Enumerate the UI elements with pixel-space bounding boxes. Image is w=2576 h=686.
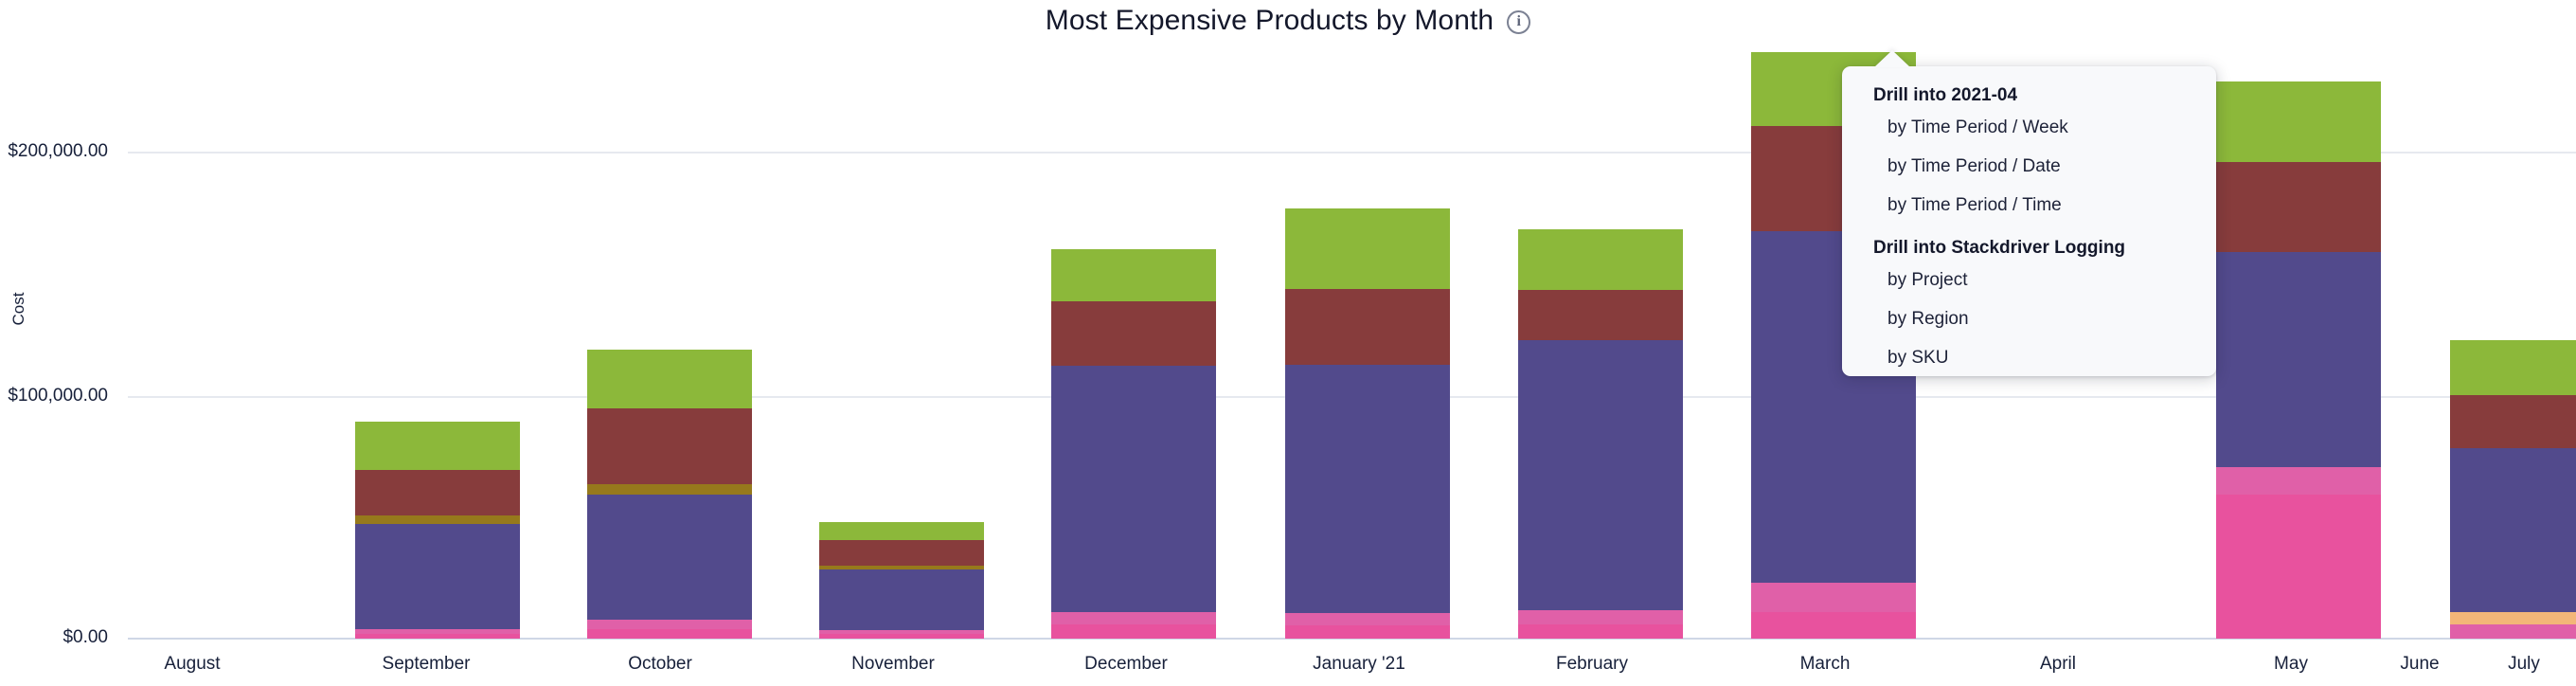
bar-segment[interactable] [2216, 81, 2381, 162]
menu-item-time-date[interactable]: by Time Period / Date [1842, 147, 2216, 186]
bar-june[interactable] [2216, 42, 2381, 639]
x-axis-tick-october[interactable]: October [628, 654, 692, 675]
bar-segment[interactable] [1518, 229, 1683, 290]
bar-segment[interactable] [1285, 208, 1450, 289]
bar-segment[interactable] [1751, 583, 1916, 612]
x-axis-tick-july[interactable]: July [2508, 654, 2540, 675]
y-axis-tick-label: $200,000.00 [0, 141, 108, 162]
bar-segment[interactable] [2216, 495, 2381, 639]
bar-segment[interactable] [1751, 612, 1916, 639]
bar-segment[interactable] [1518, 340, 1683, 610]
bar-segment[interactable] [587, 620, 752, 629]
bar-segment[interactable] [2216, 467, 2381, 495]
x-axis-tick-december[interactable]: December [1084, 654, 1168, 675]
bar-segment[interactable] [1051, 366, 1216, 612]
drill-menu-header-logging: Drill into Stackdriver Logging [1842, 225, 2216, 261]
bar-segment[interactable] [587, 629, 752, 639]
x-axis-tick-august[interactable]: August [164, 654, 220, 675]
x-axis-labels: AugustSeptemberOctoberNovemberDecemberJa… [128, 654, 2576, 682]
bar-segment[interactable] [355, 524, 520, 629]
x-axis-tick-april[interactable]: April [2040, 654, 2076, 675]
bar-segment[interactable] [1518, 624, 1683, 639]
x-axis-tick-february[interactable]: February [1556, 654, 1628, 675]
bar-segment[interactable] [1285, 365, 1450, 613]
bar-segment[interactable] [819, 569, 984, 630]
menu-item-region[interactable]: by Region [1842, 299, 2216, 338]
menu-item-project[interactable]: by Project [1842, 261, 2216, 299]
bar-segment[interactable] [1518, 610, 1683, 624]
bar-february[interactable] [1285, 42, 1450, 639]
bar-november[interactable] [587, 42, 752, 639]
chart-header: Most Expensive Products by Month i [0, 4, 2576, 38]
bar-segment[interactable] [355, 634, 520, 639]
bar-segment[interactable] [587, 495, 752, 620]
bar-segment[interactable] [819, 540, 984, 566]
bar-december[interactable] [819, 42, 984, 639]
y-axis-tick-label: $0.00 [0, 627, 108, 648]
bar-january-21[interactable] [1051, 42, 1216, 639]
y-axis-title: Cost [9, 293, 28, 326]
bar-segment[interactable] [2450, 624, 2576, 639]
bar-segment[interactable] [1051, 249, 1216, 301]
x-axis-tick-november[interactable]: November [851, 654, 935, 675]
bar-segment[interactable] [2450, 395, 2576, 448]
bar-segment[interactable] [587, 484, 752, 495]
x-axis-tick-march[interactable]: March [1800, 654, 1851, 675]
menu-item-time-time[interactable]: by Time Period / Time [1842, 186, 2216, 225]
bar-segment[interactable] [2216, 162, 2381, 252]
x-axis-tick-january-21[interactable]: January '21 [1313, 654, 1405, 675]
popup-arrow-icon [1874, 50, 1910, 67]
chart-page: Most Expensive Products by Month i Cost … [0, 0, 2576, 686]
bar-segment[interactable] [1285, 289, 1450, 365]
bar-segment[interactable] [2216, 252, 2381, 467]
drill-menu-header-time: Drill into 2021-04 [1842, 83, 2216, 108]
bar-segment[interactable] [1518, 290, 1683, 340]
bar-segment[interactable] [587, 350, 752, 408]
bar-segment[interactable] [819, 634, 984, 639]
bar-march[interactable] [1518, 42, 1683, 639]
y-axis-tick-label: $100,000.00 [0, 386, 108, 406]
bar-october[interactable] [355, 42, 520, 639]
bar-segment[interactable] [587, 408, 752, 484]
bar-segment[interactable] [1051, 624, 1216, 639]
bar-segment[interactable] [355, 470, 520, 515]
drill-menu-popup[interactable]: Drill into 2021-04 by Time Period / Week… [1842, 66, 2216, 376]
bar-segment[interactable] [1285, 613, 1450, 625]
x-axis-tick-june[interactable]: June [2400, 654, 2439, 675]
x-axis-tick-september[interactable]: September [383, 654, 471, 675]
bar-segment[interactable] [1285, 625, 1450, 639]
page-title: Most Expensive Products by Month [1046, 4, 1494, 38]
menu-item-sku[interactable]: by SKU [1842, 338, 2216, 377]
x-axis-tick-may[interactable]: May [2274, 654, 2308, 675]
bar-july[interactable] [2450, 42, 2576, 639]
bar-segment[interactable] [819, 522, 984, 540]
info-icon[interactable]: i [1507, 10, 1530, 34]
bar-segment[interactable] [2450, 340, 2576, 395]
bar-segment[interactable] [1051, 301, 1216, 366]
menu-item-time-week[interactable]: by Time Period / Week [1842, 108, 2216, 147]
bar-segment[interactable] [355, 422, 520, 470]
bar-segment[interactable] [1051, 612, 1216, 624]
bar-segment[interactable] [2450, 612, 2576, 624]
bar-segment[interactable] [355, 515, 520, 524]
bar-segment[interactable] [2450, 448, 2576, 612]
